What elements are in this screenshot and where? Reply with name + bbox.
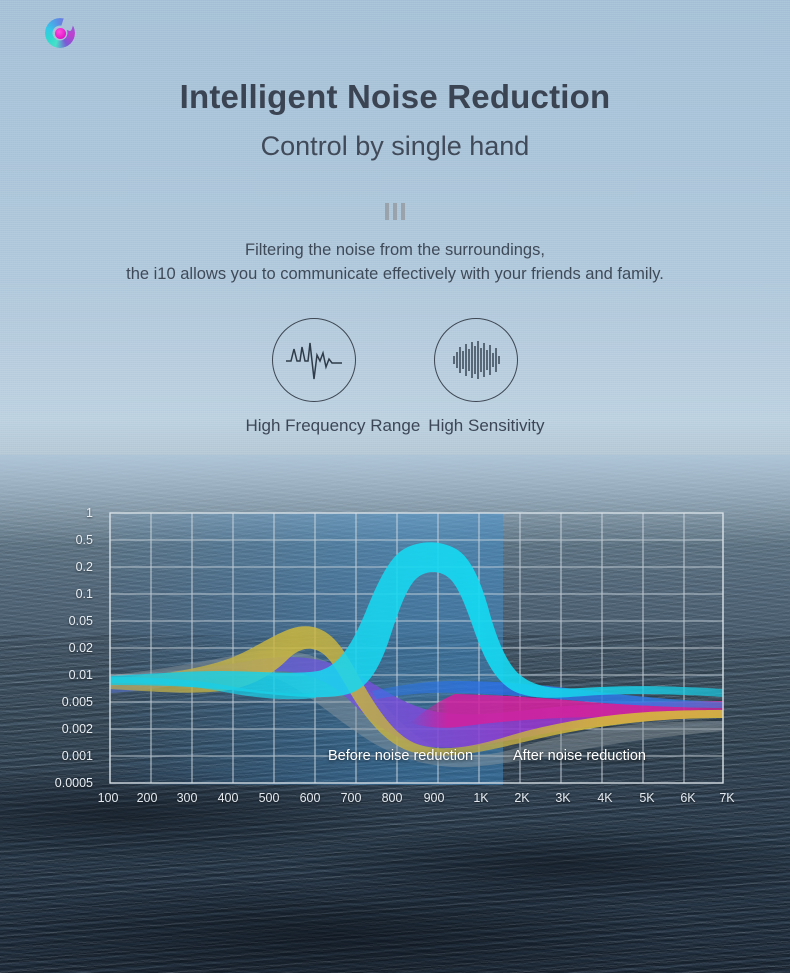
divider-bar-1 <box>385 203 389 220</box>
y-tick: 0.005 <box>62 695 93 709</box>
chart-canvas <box>0 495 790 825</box>
legend-before-noise-reduction: Before noise reduction <box>328 748 473 764</box>
x-tick: 200 <box>137 791 158 805</box>
x-tick: 100 <box>98 791 119 805</box>
page-title: Intelligent Noise Reduction <box>0 78 790 116</box>
x-tick: 4K <box>597 791 612 805</box>
logo-center-dot <box>55 28 66 39</box>
feature-circle <box>272 318 356 402</box>
y-tick: 0.1 <box>76 587 93 601</box>
feature-high-sensitivity <box>434 318 518 402</box>
x-tick: 5K <box>639 791 654 805</box>
x-tick: 900 <box>424 791 445 805</box>
frequency-response-chart: 1 0.5 0.2 0.1 0.05 0.02 0.01 0.005 0.002… <box>0 495 790 825</box>
x-tick: 3K <box>555 791 570 805</box>
y-tick: 0.2 <box>76 560 93 574</box>
feature-circle <box>434 318 518 402</box>
x-tick: 7K <box>719 791 734 805</box>
section-divider <box>0 203 790 221</box>
body-copy-line-2: the i10 allows you to communicate effect… <box>0 262 790 286</box>
x-tick: 600 <box>300 791 321 805</box>
feature-list <box>0 318 790 402</box>
x-tick: 500 <box>259 791 280 805</box>
x-tick: 300 <box>177 791 198 805</box>
body-copy: Filtering the noise from the surrounding… <box>0 238 790 286</box>
x-tick: 1K <box>473 791 488 805</box>
noise-reduction-promo-page: Intelligent Noise Reduction Control by s… <box>0 0 790 973</box>
y-tick: 0.5 <box>76 533 93 547</box>
x-tick: 400 <box>218 791 239 805</box>
page-subtitle: Control by single hand <box>0 131 790 162</box>
chart-y-axis: 1 0.5 0.2 0.1 0.05 0.02 0.01 0.005 0.002… <box>0 495 105 785</box>
y-tick: 0.05 <box>69 614 93 628</box>
y-tick: 0.002 <box>62 722 93 736</box>
feature-high-frequency-range <box>272 318 356 402</box>
chart-x-axis: 100 200 300 400 500 600 700 800 900 1K 2… <box>0 791 790 817</box>
y-tick: 0.02 <box>69 641 93 655</box>
body-copy-line-1: Filtering the noise from the surrounding… <box>0 238 790 262</box>
brand-logo-icon[interactable] <box>45 18 75 48</box>
audio-bars-icon <box>451 337 501 383</box>
x-tick: 700 <box>341 791 362 805</box>
divider-bar-2 <box>393 203 397 220</box>
y-tick: 0.001 <box>62 749 93 763</box>
y-tick: 0.0005 <box>55 776 93 790</box>
feature-labels-row: High Frequency Range High Sensitivity <box>0 416 790 436</box>
y-tick: 0.01 <box>69 668 93 682</box>
x-tick: 800 <box>382 791 403 805</box>
feature-label-high-sensitivity: High Sensitivity <box>428 416 544 436</box>
y-tick: 1 <box>86 506 93 520</box>
waveform-ecg-icon <box>283 335 345 385</box>
x-tick: 2K <box>514 791 529 805</box>
legend-after-noise-reduction: After noise reduction <box>513 748 646 764</box>
divider-bar-3 <box>401 203 405 220</box>
x-tick: 6K <box>680 791 695 805</box>
feature-label-high-frequency-range: High Frequency Range <box>245 416 420 436</box>
